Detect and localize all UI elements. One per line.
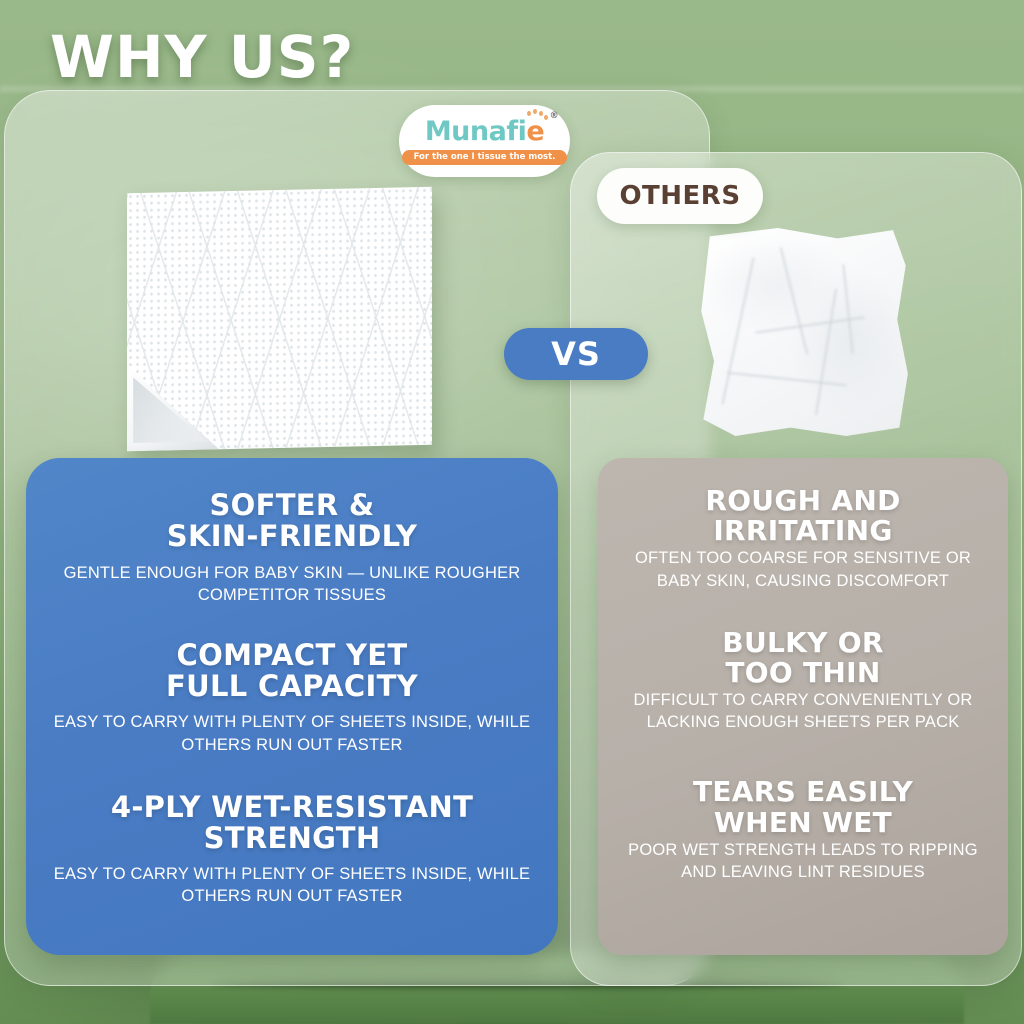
drawback-item: BULKY OR TOO THIN DIFFICULT TO CARRY CON…: [622, 628, 984, 734]
drawback-title: TEARS EASILY WHEN WET: [622, 777, 984, 837]
crease-line: [780, 247, 809, 354]
benefit-title-line: SOFTER &: [50, 490, 534, 521]
benefit-item: 4-PLY WET-RESISTANT STRENGTH EASY TO CAR…: [50, 792, 534, 908]
drawback-description: OFTEN TOO COARSE FOR SENSITIVE OR BABY S…: [622, 547, 984, 591]
benefits-card-ours: SOFTER & SKIN-FRIENDLY GENTLE ENOUGH FOR…: [26, 458, 558, 955]
drawback-title-line: WHEN WET: [622, 808, 984, 838]
others-label: OTHERS: [597, 168, 763, 224]
benefit-title-line: STRENGTH: [50, 823, 534, 854]
brand-name-primary: Munafi: [425, 116, 527, 147]
registered-trademark-icon: ®: [550, 112, 559, 121]
our-tissue-image: [127, 187, 432, 451]
drawbacks-card-others: ROUGH AND IRRITATING OFTEN TOO COARSE FO…: [598, 458, 1008, 955]
benefit-description: GENTLE ENOUGH FOR BABY SKIN — UNLIKE ROU…: [50, 562, 534, 606]
paw-print-icon: [527, 111, 531, 116]
other-tissue-image: [697, 228, 910, 436]
benefit-description: EASY TO CARRY WITH PLENTY OF SHEETS INSI…: [50, 863, 534, 907]
drawback-item: ROUGH AND IRRITATING OFTEN TOO COARSE FO…: [622, 486, 984, 592]
vs-badge: VS: [504, 328, 648, 380]
paw-print-icon: [539, 111, 543, 116]
benefit-title: COMPACT YET FULL CAPACITY: [50, 640, 534, 703]
crease-line: [842, 264, 853, 354]
crease-line: [721, 257, 754, 404]
drawback-title: ROUGH AND IRRITATING: [622, 486, 984, 546]
benefit-title: SOFTER & SKIN-FRIENDLY: [50, 490, 534, 553]
brand-tagline: For the one I tissue the most.: [402, 150, 568, 165]
drawback-title: BULKY OR TOO THIN: [622, 628, 984, 688]
page-title: WHY US?: [50, 28, 354, 86]
benefit-description: EASY TO CARRY WITH PLENTY OF SHEETS INSI…: [50, 711, 534, 755]
drawback-item: TEARS EASILY WHEN WET POOR WET STRENGTH …: [622, 777, 984, 883]
drawback-title-line: TEARS EASILY: [622, 777, 984, 807]
drawback-title-line: TOO THIN: [622, 658, 984, 688]
brand-wordmark: Munafie ®: [425, 118, 544, 145]
drawback-description: POOR WET STRENGTH LEADS TO RIPPING AND L…: [622, 839, 984, 883]
benefit-title-line: COMPACT YET: [50, 640, 534, 671]
brand-logo: Munafie ® For the one I tissue the most.: [399, 105, 570, 177]
drawback-description: DIFFICULT TO CARRY CONVENIENTLY OR LACKI…: [622, 689, 984, 733]
benefit-item: COMPACT YET FULL CAPACITY EASY TO CARRY …: [50, 640, 534, 756]
benefit-title-line: SKIN-FRIENDLY: [50, 521, 534, 552]
benefit-title: 4-PLY WET-RESISTANT STRENGTH: [50, 792, 534, 855]
crease-line: [815, 289, 837, 416]
drawback-title-line: ROUGH AND: [622, 486, 984, 516]
benefit-title-line: 4-PLY WET-RESISTANT: [50, 792, 534, 823]
brand-name-accent: e: [526, 116, 544, 147]
drawback-title-line: BULKY OR: [622, 628, 984, 658]
paw-print-icon: [533, 109, 537, 114]
benefit-item: SOFTER & SKIN-FRIENDLY GENTLE ENOUGH FOR…: [50, 490, 534, 606]
drawback-title-line: IRRITATING: [622, 516, 984, 546]
crease-line: [727, 372, 847, 387]
benefit-title-line: FULL CAPACITY: [50, 671, 534, 702]
paw-print-icon: [544, 115, 548, 120]
